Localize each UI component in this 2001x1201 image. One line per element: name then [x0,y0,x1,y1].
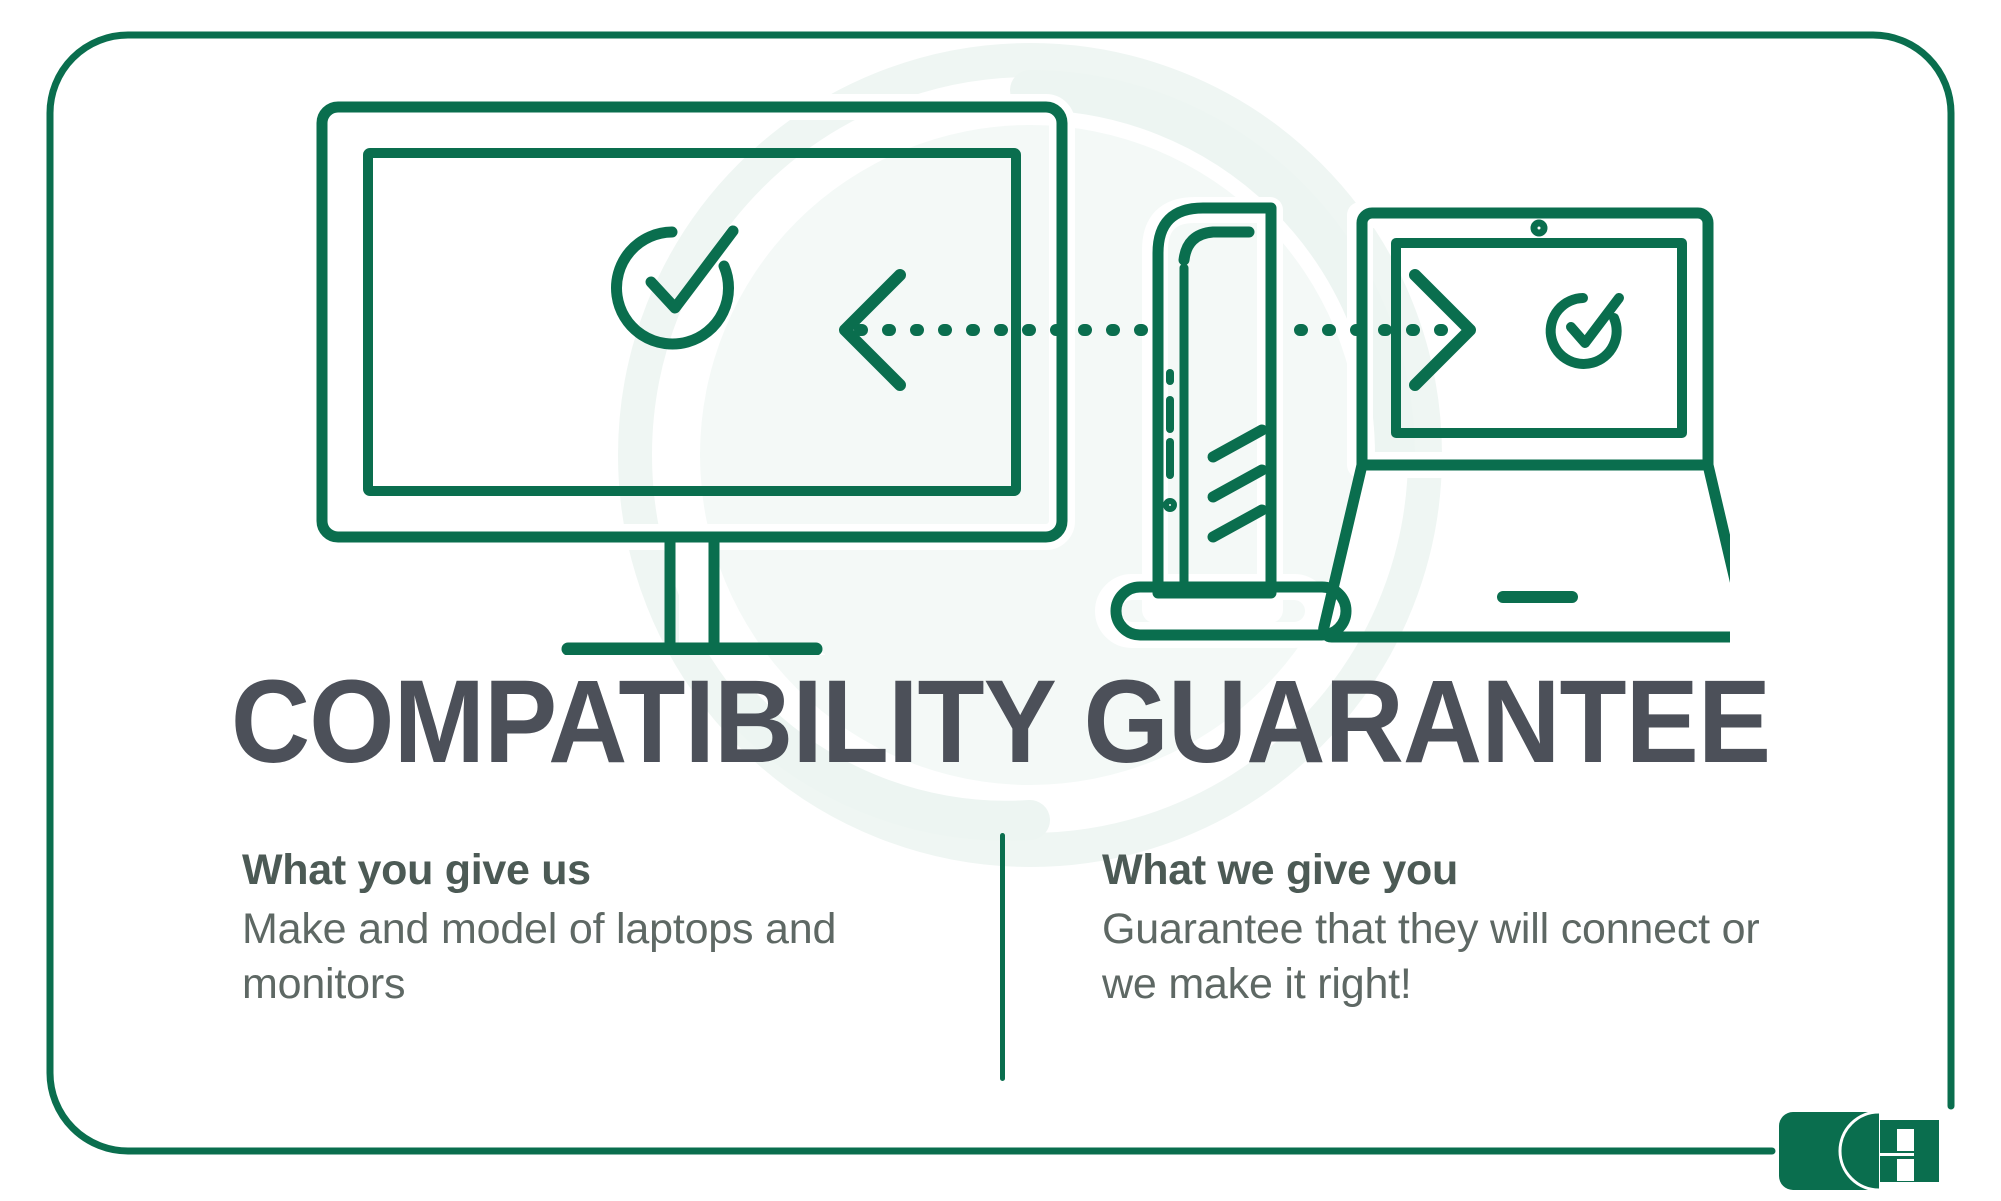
compatibility-guarantee-card: COMPATIBILITY GUARANTEE What you give us… [0,0,2001,1201]
column-what-you-give: What you give us Make and model of lapto… [242,845,942,1012]
dotted-arrow-right-icon [1300,275,1470,385]
check-circle-icon-laptop [1551,298,1619,364]
laptop-icon [1324,213,1730,637]
column-right-body: Guarantee that they will connect or we m… [1102,902,1802,1012]
benefit-columns: What you give us Make and model of lapto… [242,845,1802,1095]
column-left-body: Make and model of laptops and monitors [242,902,942,1012]
dotted-arrow-left-icon [845,275,1148,385]
check-circle-icon-monitor [617,231,733,344]
page-title: COMPATIBILITY GUARANTEE [70,663,1931,781]
column-left-title: What you give us [242,845,942,896]
device-illustration [300,85,1730,655]
column-right-title: What we give you [1102,845,1802,896]
column-divider [1000,833,1005,1081]
column-what-we-give: What we give you Guarantee that they wil… [1102,845,1802,1012]
usb-drive-logo [1779,1112,1939,1190]
